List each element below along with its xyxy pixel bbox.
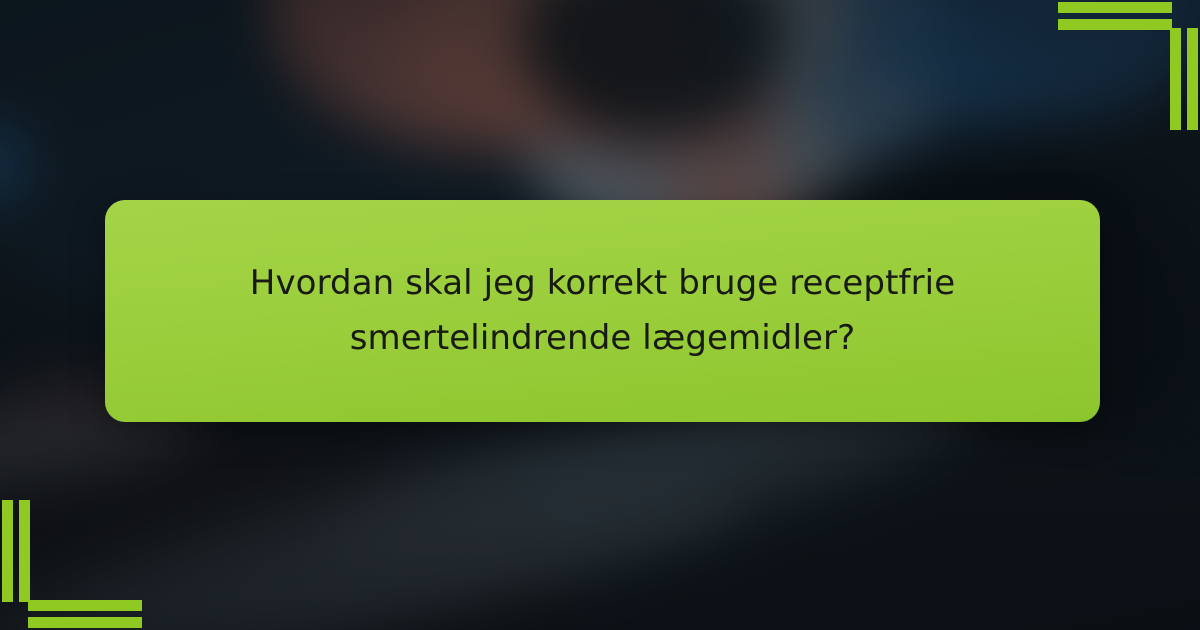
headline-panel-wrapper: Hvordan skal jeg korrekt bruge receptfri… (105, 200, 1100, 422)
bracket-bar-horizontal-2 (1058, 19, 1172, 30)
corner-bracket-bottom-left (0, 490, 160, 630)
bracket-bar-horizontal-1 (28, 617, 142, 628)
bracket-bar-vertical-2 (1187, 28, 1198, 130)
bracket-bar-vertical-2 (2, 500, 13, 602)
social-card: Hvordan skal jeg korrekt bruge receptfri… (0, 0, 1200, 630)
corner-bracket-top-right (1040, 0, 1200, 140)
headline-panel: Hvordan skal jeg korrekt bruge receptfri… (105, 200, 1100, 422)
bracket-bar-vertical-1 (19, 500, 30, 602)
bracket-bar-horizontal-2 (28, 600, 142, 611)
bracket-bar-horizontal-1 (1058, 2, 1172, 13)
bracket-bar-vertical-1 (1170, 28, 1181, 130)
headline-text: Hvordan skal jeg korrekt bruge receptfri… (233, 256, 973, 366)
